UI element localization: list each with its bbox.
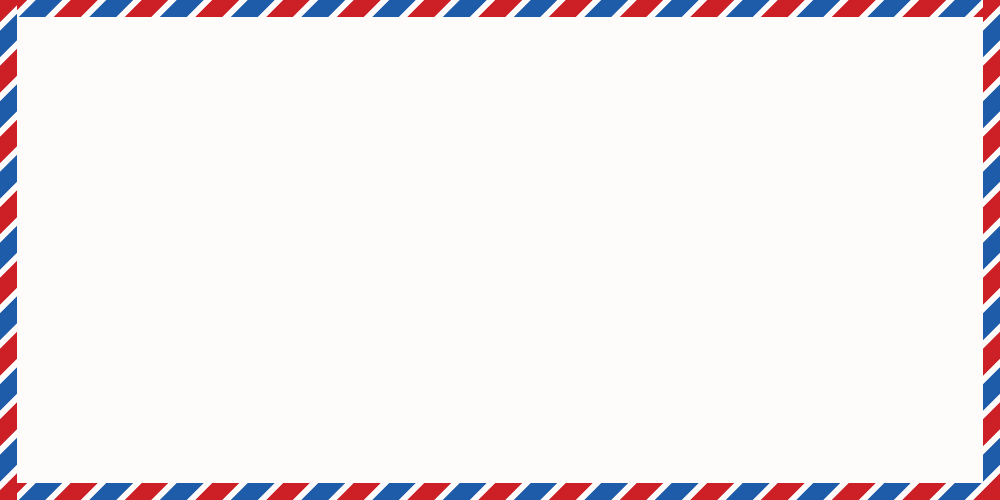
postcode-digit-box-4[interactable]: 7 [551,25,623,97]
level-4-label-group: 某某路邮政支局 四级：投递局（区） [500,388,780,439]
postcode-digit-3: 7 [382,29,446,93]
level-2-label-group: 南充市 二级：邮区 [185,222,385,273]
delivery-office-title: 投递局 [775,106,915,132]
level-1-label-group: 四川省 一级：省、自治区、直辖市 [75,110,235,184]
postcode-digit-box-1[interactable]: 6 [33,25,105,97]
level-3-subtitle: 三级：县（市）邮政局 [310,334,560,357]
level-1-subtitle: 一级：省、自治区、直辖市 [75,138,235,184]
level-1-title: 四川省 [75,110,235,136]
postcode-digit-5: 5 [727,29,791,93]
postcode-digit-box-3[interactable]: 7 [378,25,450,97]
level-2-subtitle: 二级：邮区 [185,250,385,273]
postcode-digit-2: 3 [210,29,274,93]
postcode-digit-1: 6 [37,29,101,93]
postcode-composition-badge-text: 邮编组成：四级六码 [54,429,239,458]
postcode-digit-box-6[interactable]: 0 [896,25,968,97]
postcode-digit-4: 7 [555,29,619,93]
postcode-digit-6: 0 [900,29,964,93]
delivery-office-label-group: 投递局 [775,106,915,132]
postcode-digit-box-2[interactable]: 3 [206,25,278,97]
level-4-subtitle: 四级：投递局（区） [500,416,780,439]
level-3-label-group: 营山县 三级：县（市）邮政局 [310,306,560,357]
postcode-diagram-page: 6 3 7 7 5 0 四川省 一级：省、自治区、直辖市 南充市 二级：邮区 营… [0,0,1000,500]
level-4-title: 某某路邮政支局 [500,388,780,414]
level-2-title: 南充市 [185,222,385,248]
postcode-composition-badge: 邮编组成：四级六码 [33,421,259,466]
postcode-digit-box-5[interactable]: 5 [723,25,795,97]
level-3-title: 营山县 [310,306,560,332]
